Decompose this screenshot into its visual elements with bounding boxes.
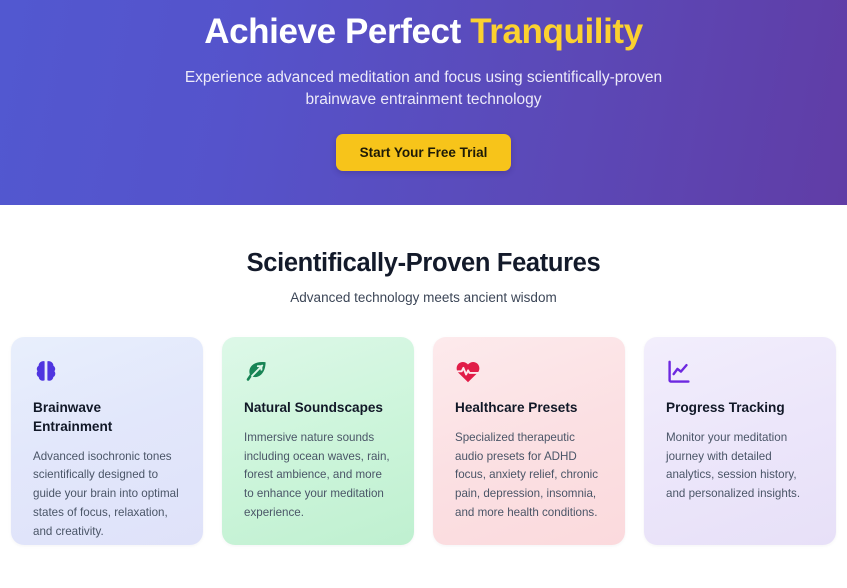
hero-cta-wrapper: Start Your Free Trial bbox=[0, 134, 847, 171]
hero-title: Achieve Perfect Tranquility bbox=[204, 10, 643, 54]
line-chart-icon bbox=[666, 359, 692, 385]
heart-pulse-icon bbox=[455, 359, 481, 385]
hero-subtitle: Experience advanced meditation and focus… bbox=[174, 67, 674, 112]
feature-card-title: Progress Tracking bbox=[666, 399, 816, 418]
hero-title-accent: Tranquility bbox=[470, 12, 643, 51]
feature-card-body: Advanced isochronic tones scientifically… bbox=[33, 448, 183, 542]
feature-card-body: Immersive nature sounds including ocean … bbox=[244, 429, 394, 523]
feature-card-body: Monitor your meditation journey with det… bbox=[666, 429, 816, 504]
features-subheading: Advanced technology meets ancient wisdom bbox=[290, 290, 556, 305]
brain-icon bbox=[33, 359, 59, 385]
leaf-icon bbox=[244, 359, 270, 385]
feature-card-body: Specialized therapeutic audio presets fo… bbox=[455, 429, 605, 523]
feature-card-title: Brainwave Entrainment bbox=[33, 399, 183, 437]
features-heading: Scientifically-Proven Features bbox=[247, 249, 601, 278]
start-free-trial-button[interactable]: Start Your Free Trial bbox=[336, 134, 512, 171]
hero-section: Achieve Perfect Tranquility Experience a… bbox=[0, 0, 847, 205]
feature-card-natural-soundscapes[interactable]: Natural Soundscapes Immersive nature sou… bbox=[222, 337, 414, 545]
feature-card-list: Brainwave Entrainment Advanced isochroni… bbox=[0, 337, 847, 545]
features-section: Scientifically-Proven Features Advanced … bbox=[0, 205, 847, 588]
landing-page: Achieve Perfect Tranquility Experience a… bbox=[0, 0, 847, 588]
feature-card-title: Healthcare Presets bbox=[455, 399, 605, 418]
feature-card-title: Natural Soundscapes bbox=[244, 399, 394, 418]
feature-card-progress-tracking[interactable]: Progress Tracking Monitor your meditatio… bbox=[644, 337, 836, 545]
feature-card-brainwave-entrainment[interactable]: Brainwave Entrainment Advanced isochroni… bbox=[11, 337, 203, 545]
hero-title-prefix: Achieve Perfect bbox=[204, 12, 470, 51]
feature-card-healthcare-presets[interactable]: Healthcare Presets Specialized therapeut… bbox=[433, 337, 625, 545]
